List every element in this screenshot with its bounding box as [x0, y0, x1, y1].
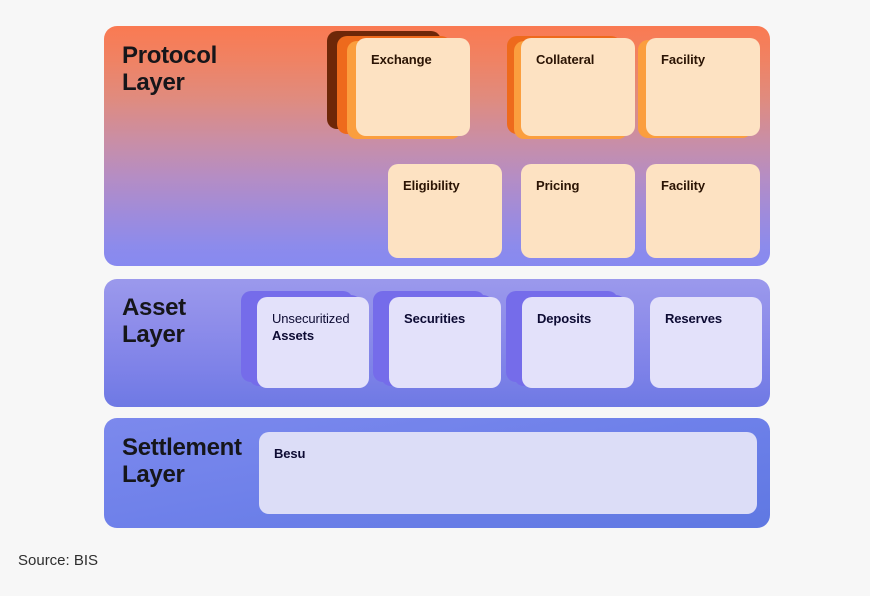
- card-securities[interactable]: Securities: [389, 297, 501, 388]
- card-face: Securities: [389, 297, 501, 388]
- card-label: Collateral: [536, 51, 594, 68]
- asset-layer-title: Asset Layer: [122, 295, 186, 349]
- card-face: Eligibility: [388, 164, 502, 258]
- settlement-layer-title: Settlement Layer: [122, 435, 242, 489]
- card-collateral[interactable]: Collateral: [521, 38, 635, 136]
- card-label: Facility: [661, 177, 705, 194]
- card-face: Exchange: [356, 38, 470, 136]
- card-face: Unsecuritized Assets: [257, 297, 369, 388]
- card-label: Exchange: [371, 51, 432, 68]
- card-facility-bottom[interactable]: Facility: [646, 164, 760, 258]
- card-label: Unsecuritized Assets: [272, 310, 349, 344]
- card-label-line2: Assets: [272, 328, 314, 343]
- card-label: Deposits: [537, 310, 591, 327]
- layered-architecture-diagram: Protocol Layer Exchange Collateral Facil…: [0, 0, 870, 596]
- card-face: Deposits: [522, 297, 634, 388]
- source-caption: Source: BIS: [18, 552, 98, 569]
- card-face: Facility: [646, 38, 760, 136]
- card-deposits[interactable]: Deposits: [522, 297, 634, 388]
- card-exchange[interactable]: Exchange: [356, 38, 470, 136]
- card-face: Collateral: [521, 38, 635, 136]
- card-unsecuritized-assets[interactable]: Unsecuritized Assets: [257, 297, 369, 388]
- card-face: Facility: [646, 164, 760, 258]
- asset-layer-panel: Asset Layer Unsecuritized Assets Securit…: [104, 279, 770, 407]
- card-eligibility[interactable]: Eligibility: [388, 164, 502, 258]
- card-label: Securities: [404, 310, 465, 327]
- card-reserves[interactable]: Reserves: [650, 297, 762, 388]
- settlement-layer-panel: Settlement Layer Besu: [104, 418, 770, 528]
- card-besu[interactable]: Besu: [259, 432, 757, 514]
- card-facility-top[interactable]: Facility: [646, 38, 760, 136]
- card-face: Reserves: [650, 297, 762, 388]
- card-label-line1: Unsecuritized: [272, 311, 349, 326]
- protocol-layer-title: Protocol Layer: [122, 43, 217, 97]
- card-face: Pricing: [521, 164, 635, 258]
- card-label: Reserves: [665, 310, 722, 327]
- card-pricing[interactable]: Pricing: [521, 164, 635, 258]
- protocol-layer-panel: Protocol Layer Exchange Collateral Facil…: [104, 26, 770, 266]
- card-label: Pricing: [536, 177, 579, 194]
- card-label: Eligibility: [403, 177, 460, 194]
- card-label: Facility: [661, 51, 705, 68]
- card-label: Besu: [274, 445, 305, 462]
